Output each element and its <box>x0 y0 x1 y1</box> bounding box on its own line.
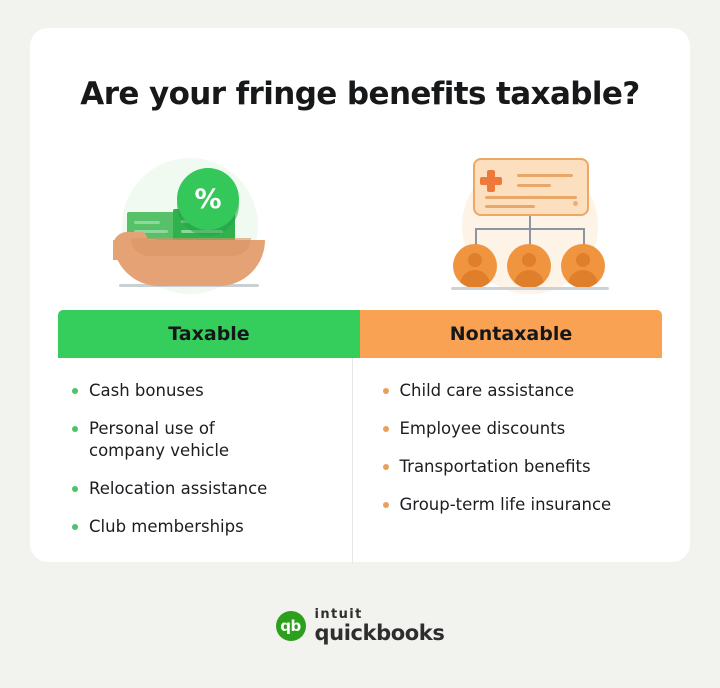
list-item: Employee discounts <box>383 418 651 440</box>
bullet-icon <box>383 502 389 508</box>
connector-stem <box>529 216 531 244</box>
intuit-quickbooks-logo: qb intuit quickbooks <box>0 608 720 644</box>
employee-avatar <box>561 244 605 288</box>
insurance-card <box>473 158 589 216</box>
employee-avatar <box>453 244 497 288</box>
nontaxable-list: Child care assistance Employee discounts… <box>352 358 663 564</box>
infographic-page: Are your fringe benefits taxable? <box>0 0 720 688</box>
list-item: Cash bonuses <box>72 380 340 402</box>
list-item: Personal use of company vehicle <box>72 418 340 462</box>
benefits-table: Taxable Nontaxable Cash bonuses Personal… <box>58 310 662 564</box>
list-item: Relocation assistance <box>72 478 340 500</box>
medical-cross-icon-bar <box>480 177 502 185</box>
list-item-label: Child care assistance <box>400 380 575 402</box>
employee-avatar <box>507 244 551 288</box>
bullet-icon <box>72 486 78 492</box>
bullet-icon <box>383 388 389 394</box>
list-item: Club memberships <box>72 516 340 538</box>
connector-bar <box>475 228 585 230</box>
list-item-label: Relocation assistance <box>89 478 267 500</box>
list-item-label: Cash bonuses <box>89 380 204 402</box>
ground-line <box>451 287 609 290</box>
list-item-label: Employee discounts <box>400 418 566 440</box>
taxable-illustration: % <box>40 150 340 310</box>
content-card: Are your fringe benefits taxable? <box>30 28 690 562</box>
taxable-list: Cash bonuses Personal use of company veh… <box>58 358 352 564</box>
bullet-icon <box>72 388 78 394</box>
money-in-hand-icon: % <box>105 154 275 304</box>
intuit-wordmark: intuit <box>315 608 445 621</box>
table-header-row: Taxable Nontaxable <box>58 310 662 358</box>
list-item-label: Club memberships <box>89 516 244 538</box>
column-header-taxable: Taxable <box>58 310 360 358</box>
bullet-icon <box>383 426 389 432</box>
percent-symbol: % <box>177 168 239 230</box>
bullet-icon <box>72 524 78 530</box>
quickbooks-wordmark: quickbooks <box>315 623 445 644</box>
hand-shading <box>131 238 251 256</box>
list-item-label: Personal use of company vehicle <box>89 418 259 462</box>
bullet-icon <box>72 426 78 432</box>
page-title: Are your fringe benefits taxable? <box>30 76 690 112</box>
nontaxable-illustration <box>380 150 680 310</box>
list-item: Child care assistance <box>383 380 651 402</box>
logo-wordmark: intuit quickbooks <box>315 608 445 644</box>
list-item: Transportation benefits <box>383 456 651 478</box>
quickbooks-mark-icon: qb <box>276 611 306 641</box>
insurance-benefits-icon <box>445 156 615 302</box>
table-body: Cash bonuses Personal use of company veh… <box>58 358 662 564</box>
card-chip-dot <box>573 201 578 206</box>
list-item-label: Group-term life insurance <box>400 494 612 516</box>
bullet-icon <box>383 464 389 470</box>
illustrations-row: % <box>30 150 690 310</box>
list-item-label: Transportation benefits <box>400 456 591 478</box>
column-header-nontaxable: Nontaxable <box>360 310 662 358</box>
list-item: Group-term life insurance <box>383 494 651 516</box>
